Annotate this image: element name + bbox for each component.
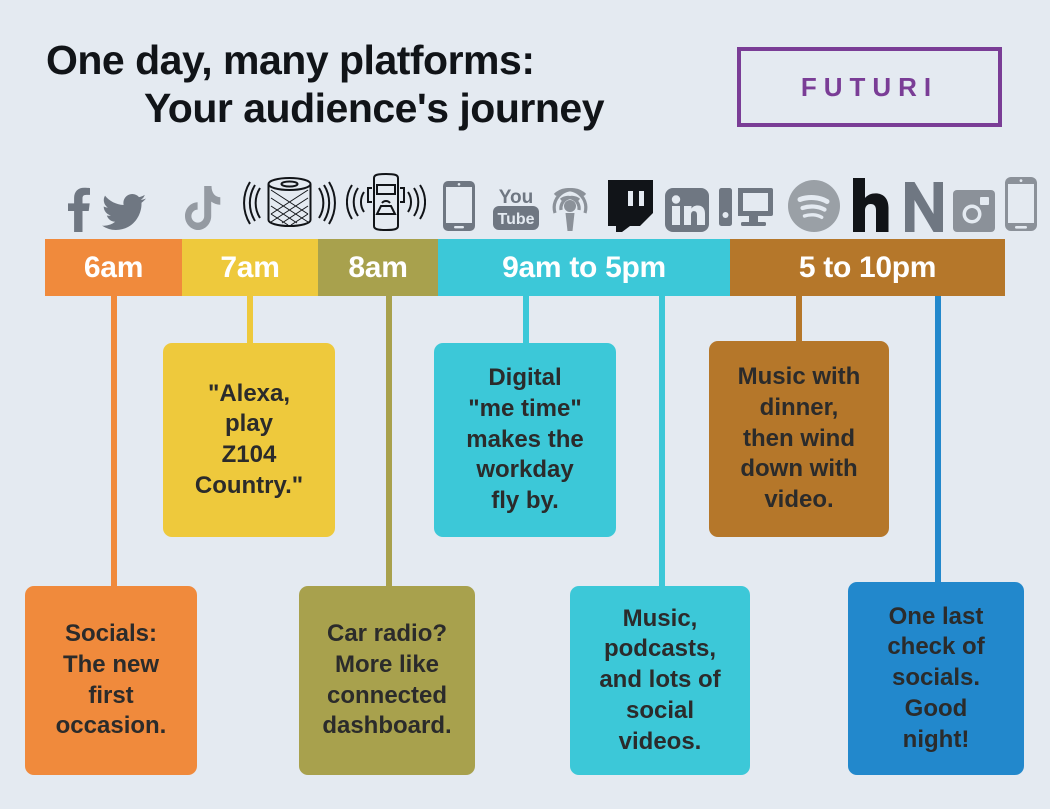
card-text: Socials: The new first occasion. <box>33 619 189 742</box>
timeline-segment-label: 9am to 5pm <box>502 251 666 285</box>
spotify-icon <box>788 180 840 232</box>
timeline-segment-label: 5 to 10pm <box>799 251 936 285</box>
card-text: Car radio? More like connected dashboard… <box>307 619 467 742</box>
iheartradio-icon <box>852 176 896 232</box>
timeline-segment-7am[interactable]: 7am <box>182 239 318 296</box>
timeline-segment-label: 6am <box>84 251 143 285</box>
card-text: Music with dinner, then wind down with v… <box>717 362 881 516</box>
connector-alexa <box>247 296 253 346</box>
card-goodnight[interactable]: One last check of socials. Good night! <box>848 582 1024 775</box>
connector-car <box>386 296 392 586</box>
connector-goodnight <box>935 296 941 586</box>
connector-socials <box>111 296 117 586</box>
timeline-segment-8am[interactable]: 8am <box>318 239 438 296</box>
card-text: One last check of socials. Good night! <box>856 602 1016 756</box>
futuri-logo-text: FUTURI <box>801 72 938 103</box>
card-socials[interactable]: Socials: The new first occasion. <box>25 586 197 775</box>
infographic-canvas: One day, many platforms: Your audience's… <box>0 0 1050 809</box>
platform-icon-strip: You Tube <box>44 170 1006 232</box>
connector-evening <box>796 296 802 342</box>
twitter-icon <box>102 188 146 232</box>
card-text: Digital "me time" makes the workday fly … <box>442 363 608 517</box>
connector-commute <box>659 296 665 586</box>
card-evening[interactable]: Music with dinner, then wind down with v… <box>709 341 889 537</box>
card-alexa[interactable]: "Alexa, play Z104 Country." <box>163 343 335 537</box>
connector-worktime <box>523 296 529 346</box>
twitch-icon <box>602 180 654 232</box>
smartphone-icon <box>440 180 478 232</box>
title-line-2: Your audience's journey <box>44 84 704 132</box>
timeline-segment-6am[interactable]: 6am <box>45 239 182 296</box>
tiktok-icon <box>184 184 224 232</box>
facebook-icon <box>62 184 94 232</box>
card-commute[interactable]: Music, podcasts, and lots of social vide… <box>570 586 750 775</box>
timeline-segment-label: 7am <box>220 251 279 285</box>
svg-text:You: You <box>499 187 533 208</box>
timeline-segment-5-10pm[interactable]: 5 to 10pm <box>730 239 1005 296</box>
page-title: One day, many platforms: Your audience's… <box>44 36 704 133</box>
desktop-icon <box>718 184 774 232</box>
card-car[interactable]: Car radio? More like connected dashboard… <box>299 586 475 775</box>
smart-speaker-icon <box>242 172 337 232</box>
timeline-segment-label: 8am <box>348 251 407 285</box>
linkedin-icon <box>664 184 710 232</box>
connected-car-icon <box>346 170 426 232</box>
youtube-icon: You Tube <box>490 182 542 232</box>
netflix-icon <box>904 180 944 232</box>
card-worktime[interactable]: Digital "me time" makes the workday fly … <box>434 343 616 537</box>
card-text: "Alexa, play Z104 Country." <box>171 379 327 502</box>
mobile-phone-icon <box>1002 176 1040 232</box>
timeline-segment-9am-5pm[interactable]: 9am to 5pm <box>438 239 730 296</box>
card-text: Music, podcasts, and lots of social vide… <box>578 604 742 758</box>
svg-text:Tube: Tube <box>497 211 534 228</box>
podcast-icon <box>546 180 594 232</box>
futuri-logo: FUTURI <box>737 47 1002 127</box>
instagram-icon <box>952 188 996 232</box>
title-line-1: One day, many platforms: <box>46 36 704 84</box>
